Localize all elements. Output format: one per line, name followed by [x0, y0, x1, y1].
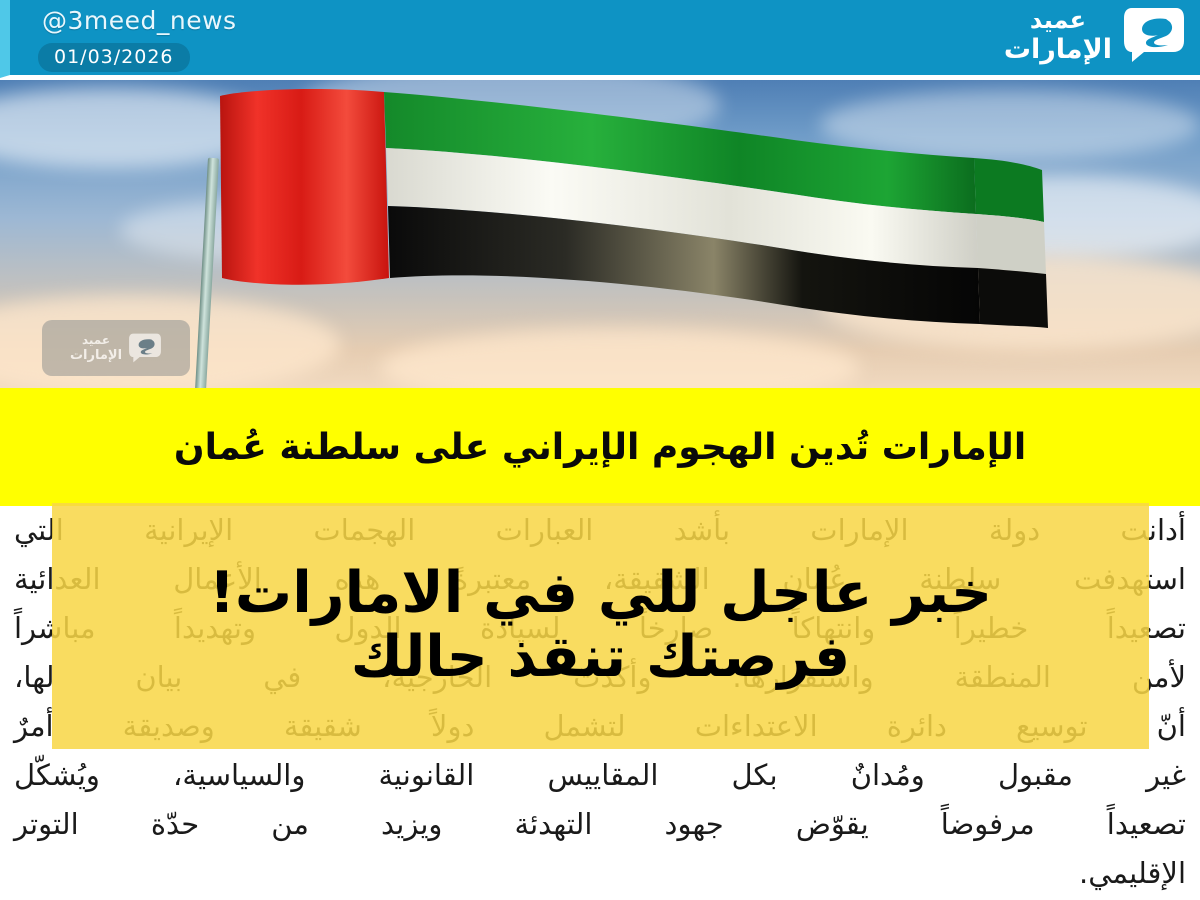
watermark-line-2: الإمارات [70, 349, 122, 362]
brand-text: عميد الإمارات [1004, 8, 1112, 63]
article-line: الإقليمي. [14, 849, 1186, 898]
brand-logo: عميد الإمارات [1004, 5, 1186, 65]
brand-line-2: الإمارات [1004, 36, 1112, 63]
uae-flag-svg [214, 82, 1074, 372]
speech-bubble-logo-icon [128, 332, 162, 364]
watermark-text: عميد الإمارات [70, 334, 122, 362]
account-handle: @3meed_news [42, 6, 237, 35]
uae-flag [214, 82, 1074, 372]
article-line: تصعيداً مرفوضاً يقوّض جهود التهدئة ويزيد… [14, 800, 1186, 849]
speech-bubble-logo-icon [1122, 5, 1186, 65]
news-card-page: @3meed_news 01/03/2026 عميد الإمارات [0, 0, 1200, 900]
promo-overlay[interactable]: خبر عاجل للي في الامارات! فرصتك تنقذ حال… [52, 503, 1149, 749]
header-inner: @3meed_news 01/03/2026 عميد الإمارات [10, 0, 1200, 75]
page-header: @3meed_news 01/03/2026 عميد الإمارات [0, 0, 1200, 78]
promo-subheadline: فرصتك تنقذ حالك [351, 627, 850, 689]
headline-band: الإمارات تُدين الهجوم الإيراني على سلطنة… [0, 388, 1200, 506]
brand-line-1: عميد [1030, 8, 1086, 32]
promo-headline: خبر عاجل للي في الامارات! [209, 563, 992, 625]
article-line: غير مقبول ومُدانٌ بكل المقاييس القانونية… [14, 751, 1186, 800]
date-badge: 01/03/2026 [38, 43, 190, 72]
page-title: الإمارات تُدين الهجوم الإيراني على سلطنة… [174, 425, 1026, 470]
hero-image: عميد الإمارات [0, 80, 1200, 388]
image-watermark: عميد الإمارات [42, 320, 190, 376]
watermark-line-1: عميد [82, 334, 110, 346]
